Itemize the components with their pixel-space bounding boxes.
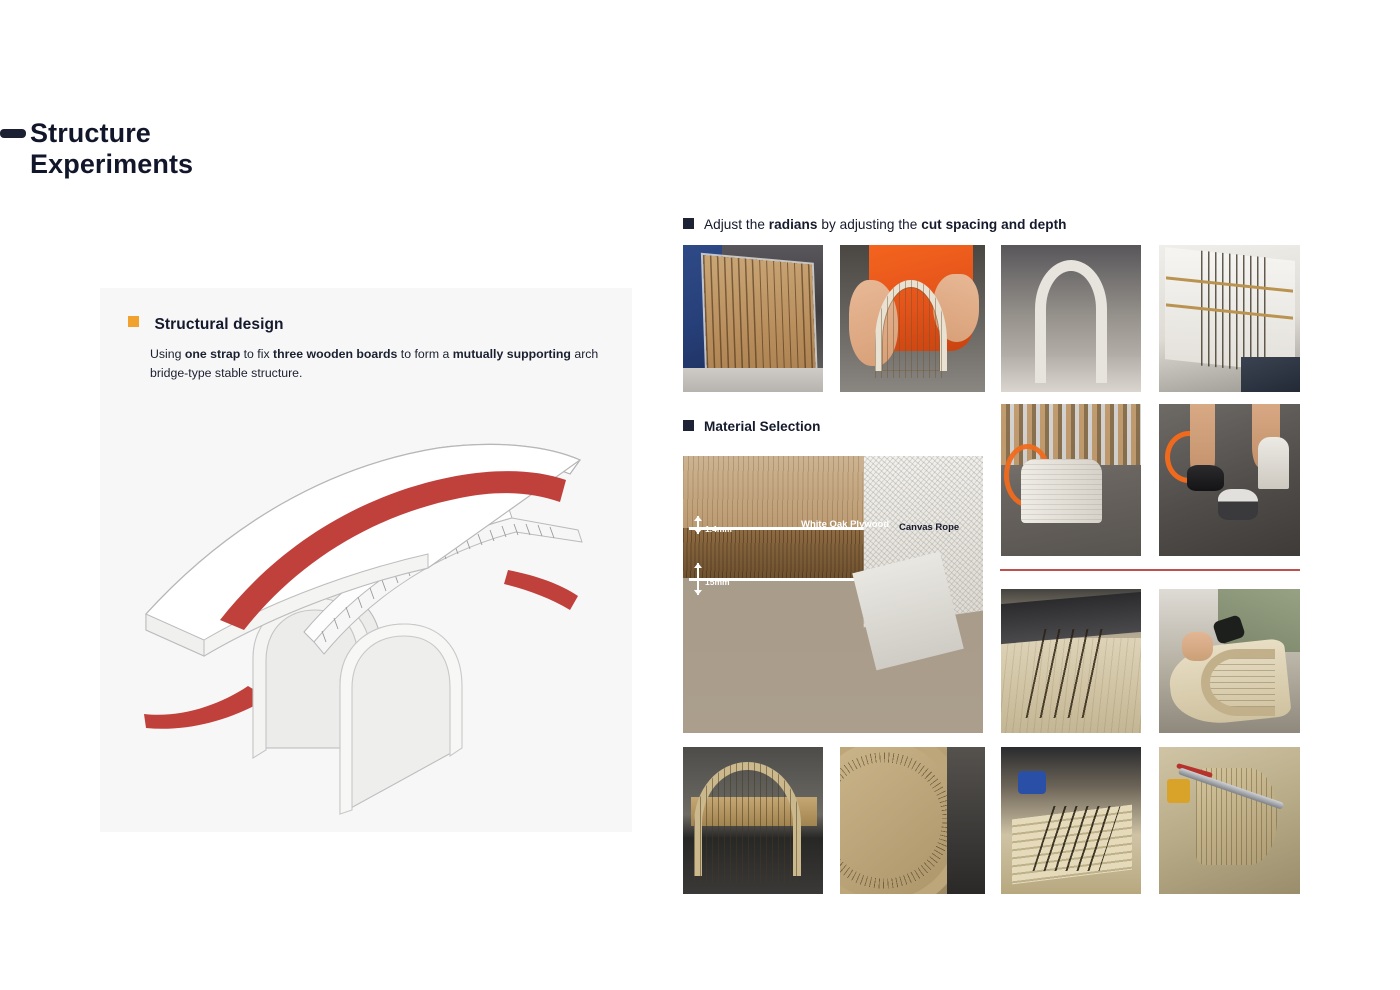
orange-square-bullet-icon [128,316,139,327]
red-divider [1000,569,1300,571]
heading-emph-radians: radians [769,217,818,232]
photo-arch-on-cnc-bed [683,747,823,894]
dark-square-bullet-icon [683,218,694,229]
label-thickness-bottom: 15mm [705,577,730,587]
photo-kerfed-plywood-sheet [683,245,823,392]
body-emphasis-boards: three wooden boards [273,347,397,361]
photo-kerf-curve-closeup [840,747,985,894]
heading-material-text: Material Selection [704,419,821,434]
dash-icon [0,129,26,138]
section-heading-material: Material Selection [683,419,821,434]
photo-prototype-in-use [1159,404,1300,556]
card-title: Structural design [154,316,283,334]
body-emphasis-support: mutually supporting [453,347,571,361]
photo-prototype-with-clamps [1001,404,1141,556]
arch-bridge-svg [108,418,628,818]
photo-bending-kerfed-strip [840,245,985,392]
plywood-top-layer [683,456,875,528]
page-title: Structure Experiments [30,118,193,179]
body-emphasis-strap: one strap [185,347,240,361]
plywood-core-layer [683,528,881,578]
label-white-oak-plywood: White Oak Plywood [801,519,889,530]
label-thickness-top: 1.4mm [705,524,732,534]
photo-table-saw-kerf-cuts [1001,589,1141,733]
photo-clamped-curved-box [1159,747,1300,894]
material-section-photo: 1.4mm 15mm White Oak Plywood Canvas Rope [683,456,983,733]
dark-square-bullet-icon [683,420,694,431]
page-title-line-1: Structure [30,118,193,149]
portfolio-page: Structure Experiments Structural design … [0,0,1400,990]
dimension-arrow-bottom [697,563,699,595]
structural-design-card: Structural design Using one strap to fix… [100,288,632,832]
card-body-text: Using one strap to fix three wooden boar… [150,345,602,384]
photo-curved-panel-handheld [1159,589,1300,733]
section-heading-radians: Adjust the radians by adjusting the cut … [683,217,1067,232]
page-title-line-2: Experiments [30,149,193,180]
strap-tail-left [144,686,268,729]
photo-grooved-board-stack [1001,747,1141,894]
photo-white-arch-model [1001,245,1141,392]
label-canvas-rope: Canvas Rope [899,522,959,533]
dimension-arrow-top [697,516,699,534]
photo-cutting-grooves-white-board [1159,245,1300,392]
strap-tail-right [504,570,578,610]
isometric-arch-bridge-diagram [108,418,628,818]
heading-emph-cut: cut spacing and depth [921,217,1066,232]
card-header: Structural design Using one strap to fix… [128,316,598,384]
